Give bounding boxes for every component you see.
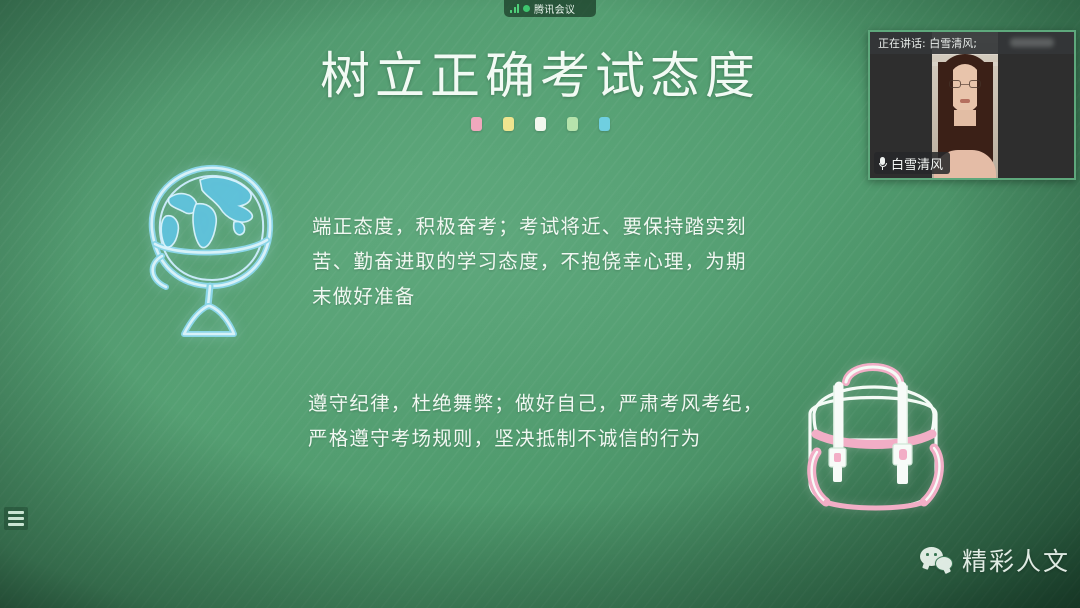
watermark: 精彩人文 — [920, 542, 1070, 578]
participant-name-label: 白雪清风 — [891, 154, 943, 173]
backpack-illustration — [784, 352, 964, 517]
app-name-label: 腾讯会议 — [534, 1, 575, 16]
wechat-icon — [920, 547, 954, 573]
watermark-label: 精彩人文 — [962, 542, 1070, 578]
slide-paragraph-1: 端正态度，积极奋考；考试将近、要保持踏实刻苦、勤奋进取的学习态度，不抱侥幸心理，… — [312, 209, 756, 314]
participant-video-tile[interactable]: 正在讲话: 白雪清风; 白雪清风 — [868, 30, 1076, 180]
glasses-detail — [949, 80, 981, 89]
speaking-status-bar: 正在讲话: 白雪清风; — [870, 32, 1074, 54]
divider-square-2 — [503, 117, 514, 131]
speaking-status-label: 正在讲话: 白雪清风; — [878, 35, 977, 51]
divider-square-3 — [535, 117, 546, 131]
app-indicator-pill[interactable]: 腾讯会议 — [504, 0, 596, 17]
blurred-controls-placeholder — [1010, 38, 1054, 47]
divider-square-5 — [599, 117, 610, 131]
meeting-screen-share-view: 腾讯会议 树立正确考试态度 — [0, 0, 1080, 608]
signal-bars-icon — [510, 4, 519, 13]
list-menu-icon[interactable] — [4, 507, 28, 530]
globe-illustration — [122, 160, 287, 345]
participant-name-chip: 白雪清风 — [874, 152, 950, 174]
divider-square-4 — [567, 117, 578, 131]
divider-square-1 — [471, 117, 482, 131]
microphone-icon[interactable] — [878, 157, 887, 170]
slide-paragraph-2: 遵守纪律，杜绝舞弊；做好自己，严肃考风考纪，严格遵守考场规则，坚决抵制不诚信的行… — [308, 386, 768, 456]
green-status-dot-icon — [523, 5, 530, 12]
